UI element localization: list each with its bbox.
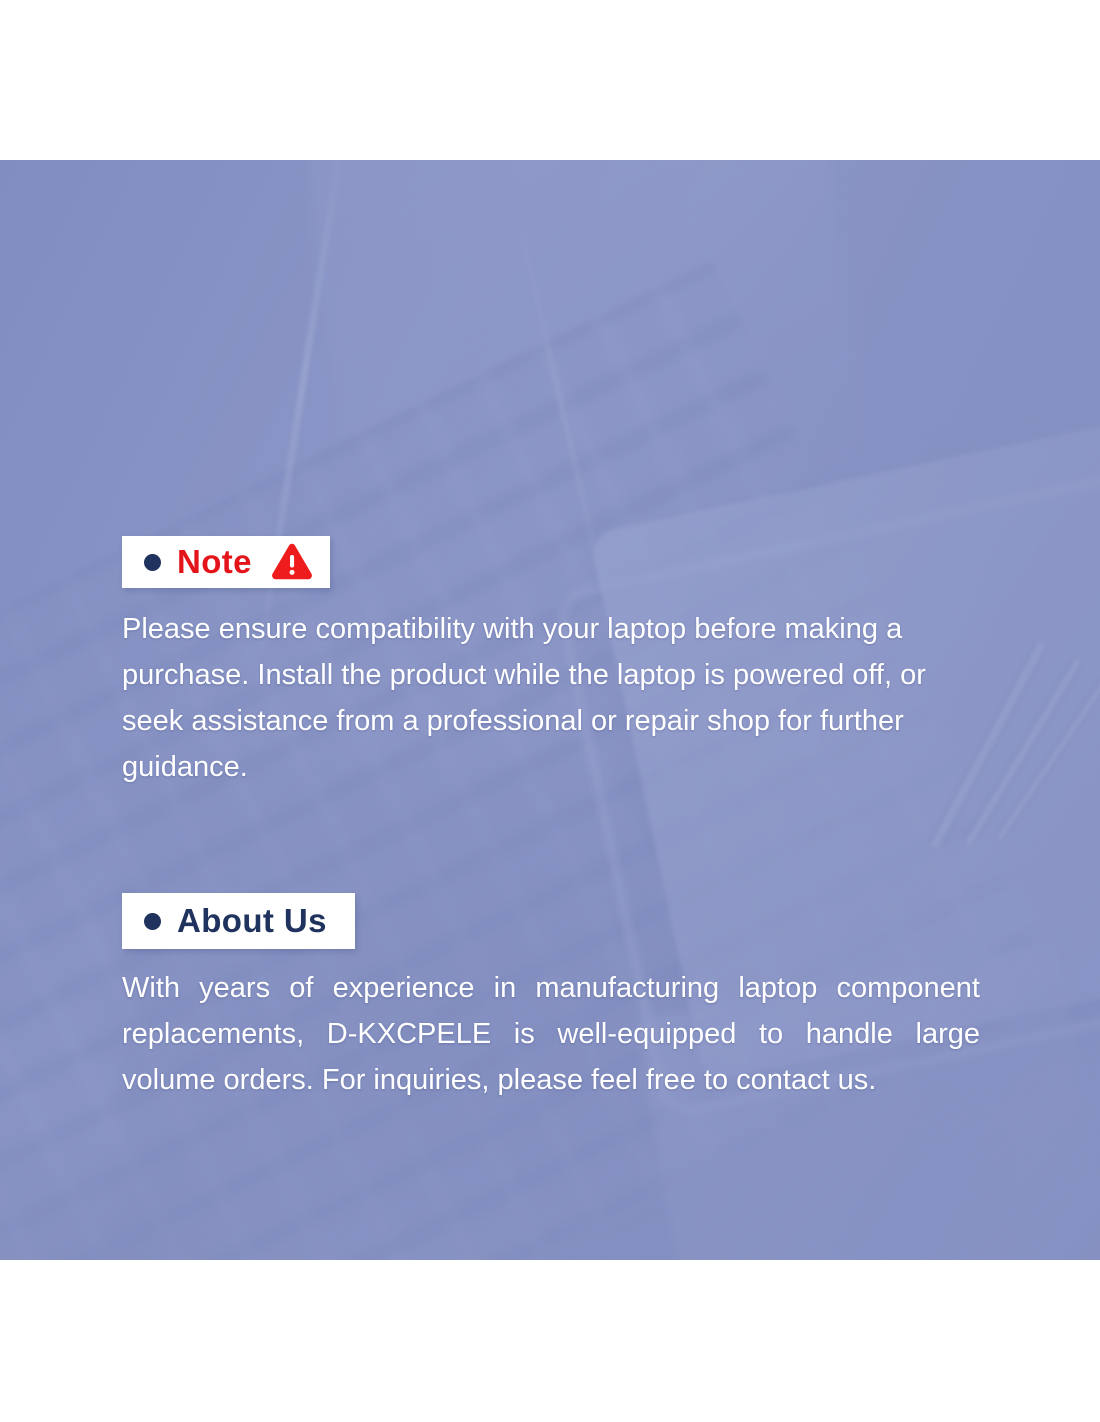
about-us-heading-row: About Us xyxy=(122,893,355,949)
product-info-banner: Note Please ensure compatibility with yo… xyxy=(0,0,1100,1422)
note-heading-label: Note xyxy=(177,543,252,581)
warning-triangle-icon xyxy=(270,542,314,582)
panel-content: Note Please ensure compatibility with yo… xyxy=(0,160,1100,1260)
note-badge: Note xyxy=(122,536,330,588)
note-body-text: Please ensure compatibility with your la… xyxy=(122,606,980,790)
tinted-photo-panel: Note Please ensure compatibility with yo… xyxy=(0,160,1100,1260)
about-us-heading-label: About Us xyxy=(177,902,327,940)
bullet-dot-icon xyxy=(144,554,161,571)
note-heading-row: Note xyxy=(122,536,330,588)
bullet-dot-icon xyxy=(144,913,161,930)
about-us-badge: About Us xyxy=(122,893,355,949)
about-us-body-text: With years of experience in manufacturin… xyxy=(122,965,980,1103)
